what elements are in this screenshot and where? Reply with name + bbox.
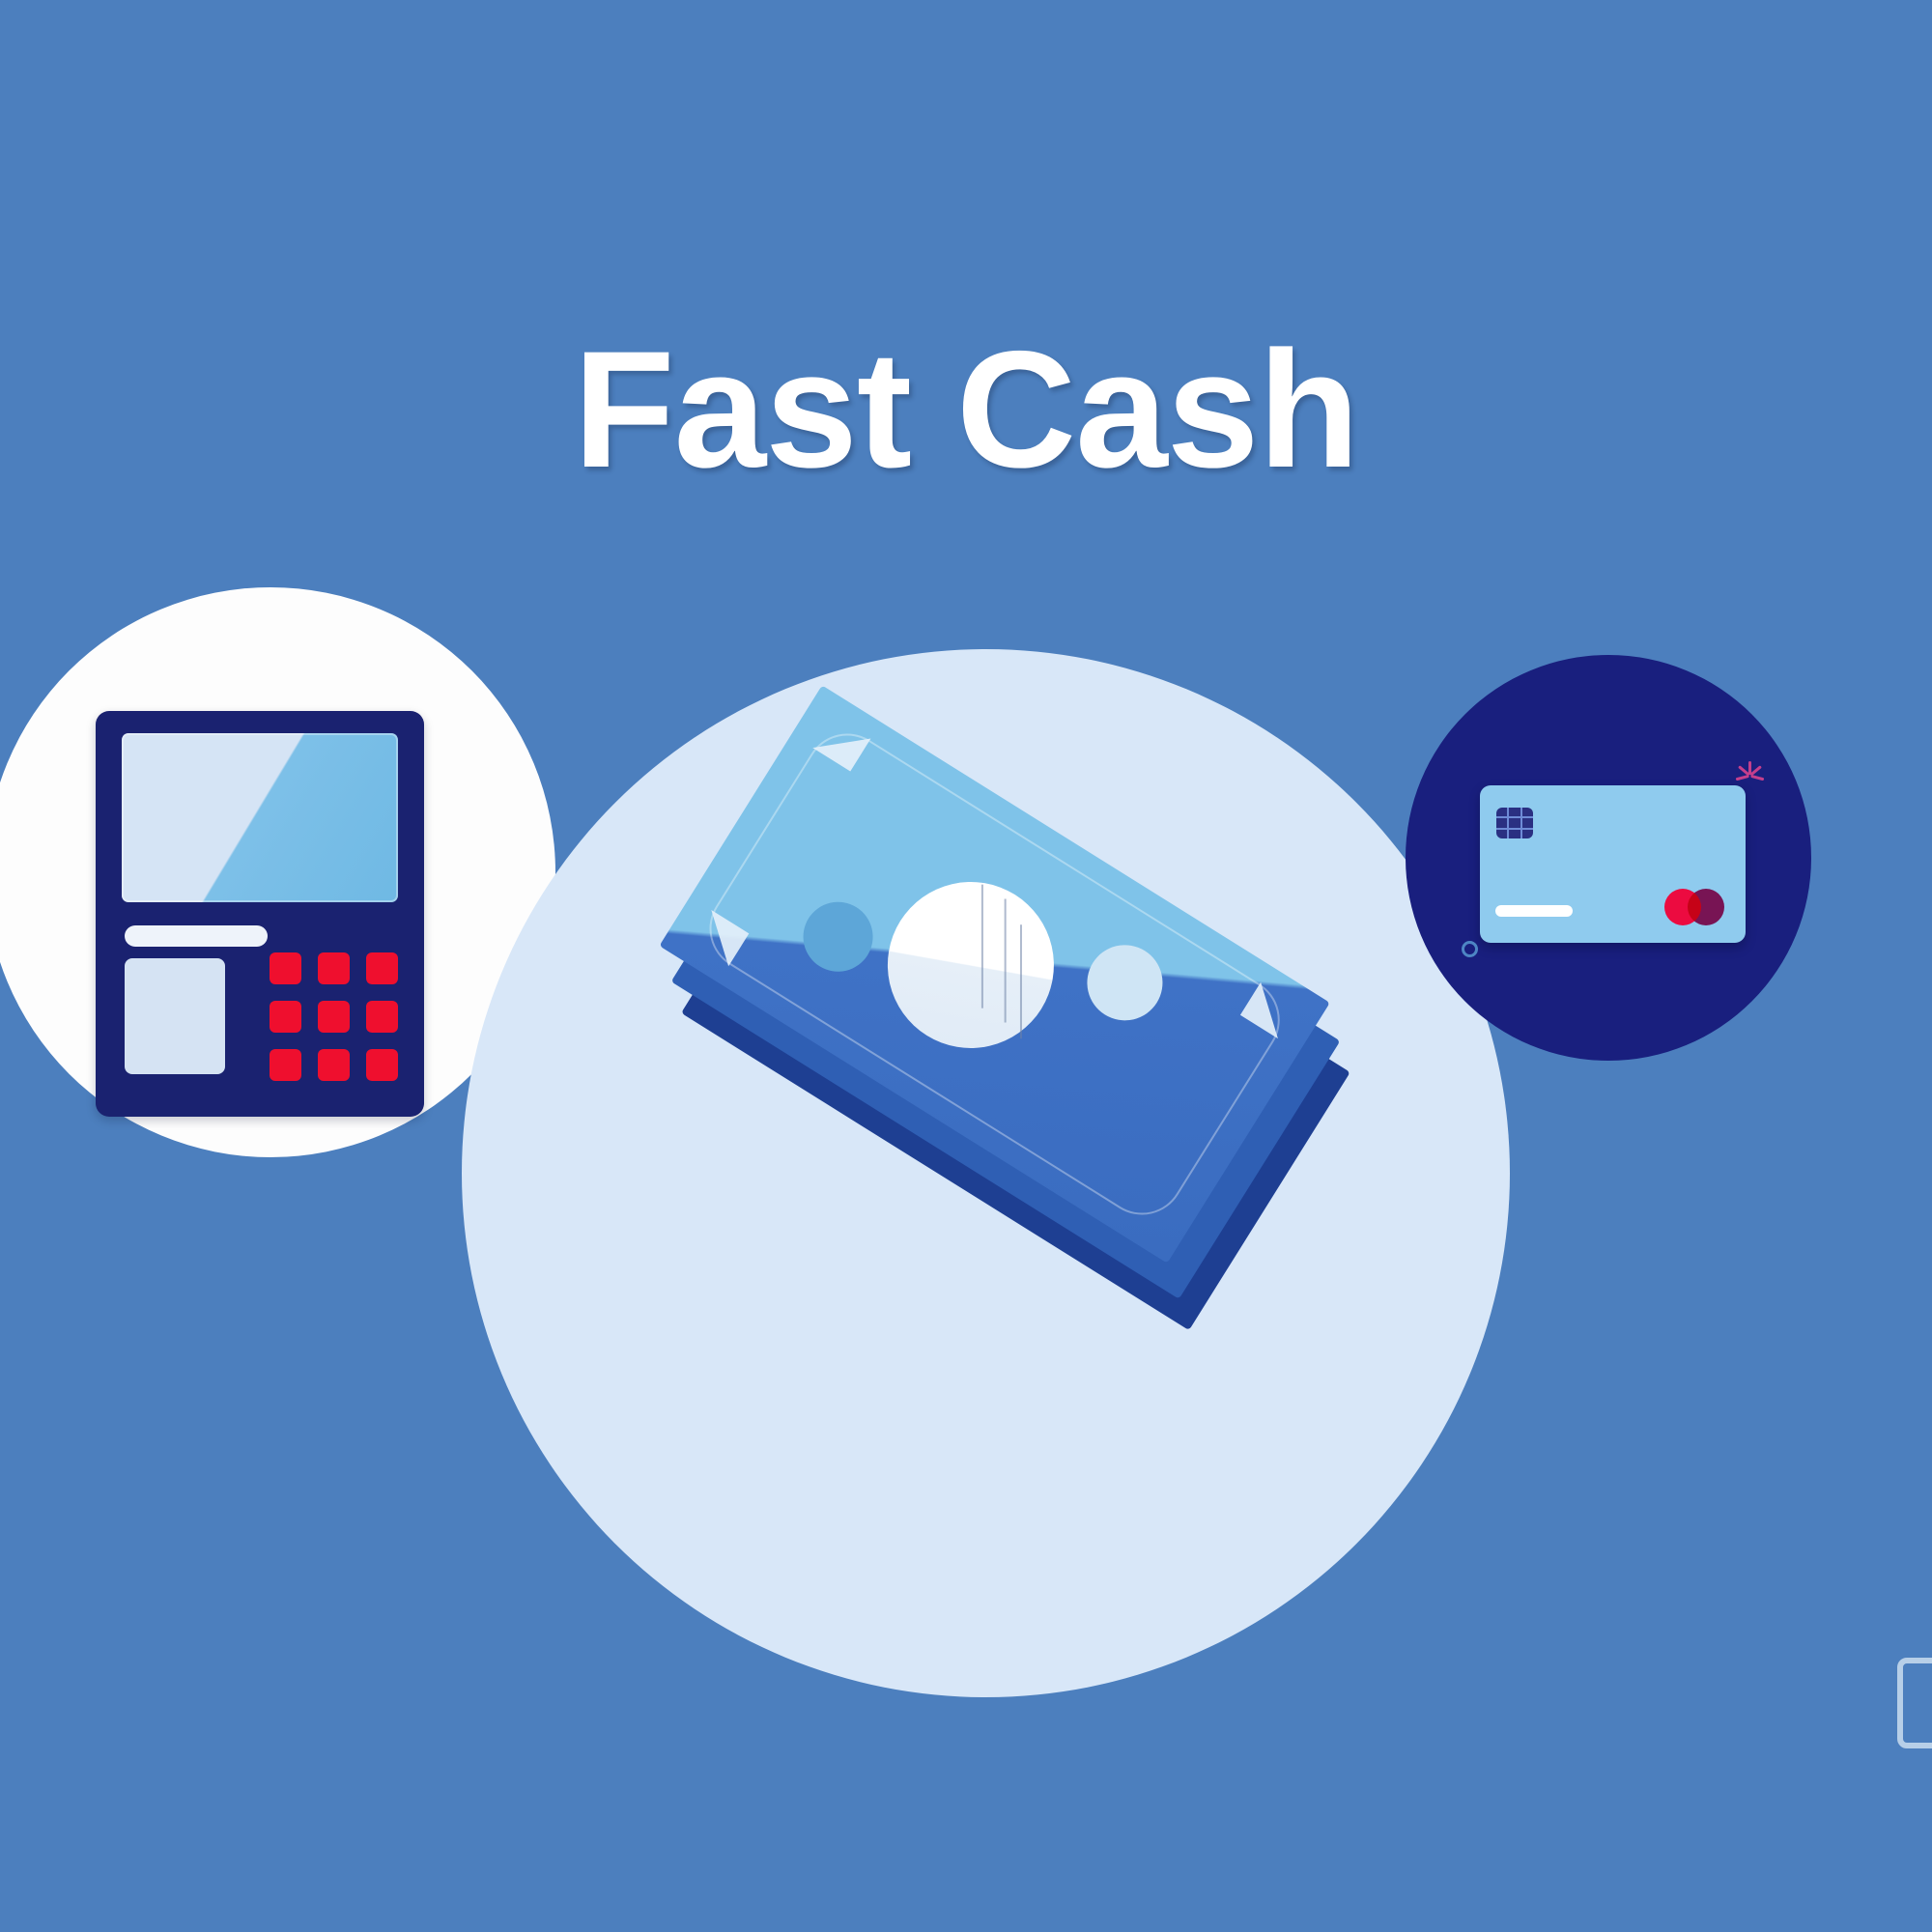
banknote-stack-icon bbox=[417, 600, 1554, 1699]
keypad-key-2 bbox=[318, 952, 350, 984]
atm-cash-dispenser bbox=[125, 958, 225, 1074]
card-network-logo-icon bbox=[1664, 889, 1724, 925]
atm-keypad bbox=[270, 952, 400, 1080]
small-ring-accent bbox=[1462, 941, 1478, 957]
banknote-hatch-line-2 bbox=[1005, 899, 1007, 1023]
illustration-canvas: Fast Cash bbox=[0, 0, 1932, 1932]
keypad-key-3 bbox=[366, 952, 398, 984]
atm-machine-icon bbox=[96, 711, 424, 1117]
credit-card-icon bbox=[1480, 785, 1746, 943]
keypad-key-1 bbox=[270, 952, 301, 984]
card-chip-icon bbox=[1496, 808, 1533, 838]
keypad-key-9 bbox=[366, 1049, 398, 1081]
atm-screen bbox=[122, 733, 398, 902]
atm-card-slot bbox=[125, 925, 268, 947]
sparkle-icon bbox=[1734, 759, 1767, 792]
card-signature-stripe bbox=[1495, 905, 1573, 917]
keypad-key-8 bbox=[318, 1049, 350, 1081]
corner-watermark-fragment bbox=[1897, 1658, 1932, 1748]
page-title: Fast Cash bbox=[0, 327, 1932, 493]
card-logo-circle-right bbox=[1688, 889, 1724, 925]
keypad-key-4 bbox=[270, 1001, 301, 1033]
keypad-key-6 bbox=[366, 1001, 398, 1033]
keypad-key-7 bbox=[270, 1049, 301, 1081]
banknote-hatch-line-1 bbox=[981, 885, 983, 1009]
banknote-hatch-line-3 bbox=[1020, 924, 1022, 1038]
keypad-key-5 bbox=[318, 1001, 350, 1033]
